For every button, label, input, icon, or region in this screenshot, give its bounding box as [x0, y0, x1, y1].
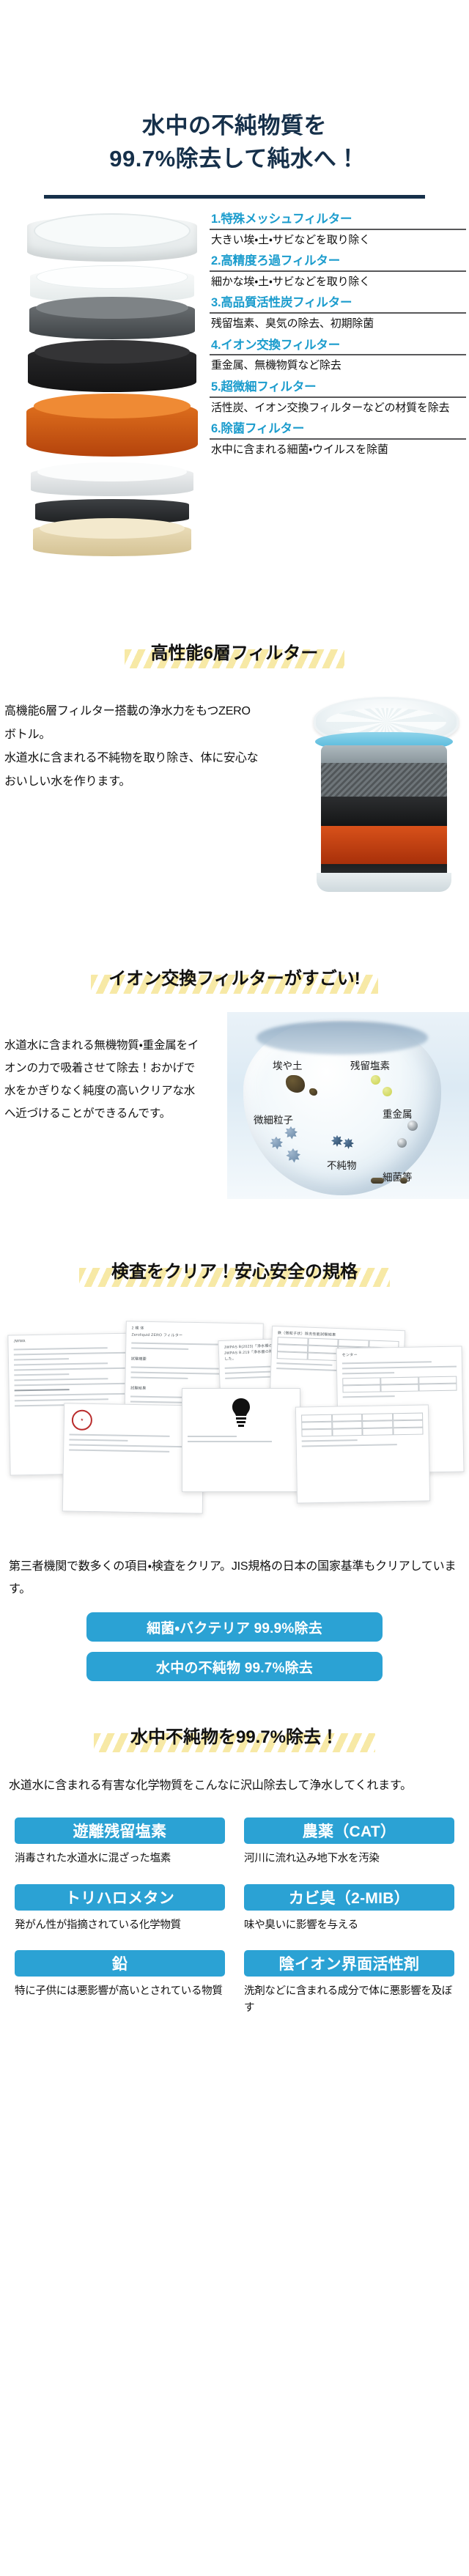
substance-desc: 発がん性が指摘されている化学物質 — [15, 1917, 225, 1934]
six-layer-section: 高性能6層フィルター 高機能6層フィルター搭載の浄水力をもつZEROボトル。 水… — [0, 638, 469, 917]
filter-desc: 大きい埃・土・サビなどを取り除く — [210, 230, 466, 249]
page-title: 水中の不純物質を 99.7%除去して純水へ！ — [0, 110, 469, 176]
water-drop-illustration: 埃や土 残留塩素 微細粒子 重金属 不純物 細菌等 — [227, 1012, 469, 1199]
particle-bacteria — [400, 1178, 407, 1184]
bottle-base — [317, 873, 451, 892]
certification-note: 第三者機関で数多くの項目・検査をクリア。JIS規格の日本の国家基準もクリアしてい… — [9, 1555, 460, 1601]
filter-stack-section: 1.特殊メッシュフィルター 大きい埃・土・サビなどを取り除く 2.高精度ろ過フィ… — [0, 212, 469, 600]
filter-desc: 細かな埃・土・サビなどを取り除く — [210, 272, 466, 291]
heading-text: 検査をクリア！安心安全の規格 — [104, 1257, 365, 1284]
six-layer-body: 高機能6層フィルター搭載の浄水力をもつZEROボトル。 水道水に含まれる不純物を… — [4, 700, 261, 794]
substance-name: 農薬（CAT） — [244, 1817, 454, 1844]
filter-title: 5.超微細フィルター — [210, 378, 466, 396]
particle-bacteria — [371, 1178, 384, 1184]
filter-title: 6.除菌フィルター — [210, 420, 466, 438]
filter-list-item: 3.高品質活性炭フィルター 残留塩素、臭気の除去、初期除菌 — [210, 294, 466, 332]
bottle-layer-2 — [321, 763, 447, 797]
ion-exchange-section: イオン交換フィルターがすごい! 水道水に含まれる無機物質・重金属をイオンの力で吸… — [0, 964, 469, 1257]
substance-name: トリハロメタン — [15, 1884, 225, 1911]
drop-label-impurity: 不純物 — [327, 1157, 357, 1172]
certificate-collage: JWWA 2 検 体 Zeroliquid ZERO フィルター 試験概要 試験… — [0, 1318, 469, 1545]
filter-list-item: 1.特殊メッシュフィルター 大きい埃・土・サビなどを取り除く — [210, 210, 466, 248]
removal-badge-bacteria: 細菌・バクテリア 99.9%除去 — [86, 1612, 383, 1642]
doc-org-label: JWWA — [8, 1333, 139, 1345]
page-title-line-2: 99.7%除去して純水へ！ — [109, 146, 359, 171]
substance-name: 陰イオン界面活性剤 — [244, 1950, 454, 1977]
drop-label-particles: 微細粒子 — [254, 1112, 293, 1126]
substance-name: カビ臭（2-MIB） — [244, 1884, 454, 1911]
drop-label-bacteria: 細菌等 — [383, 1169, 413, 1184]
filter-disc-sterilize — [33, 523, 191, 556]
substance-name: 鉛 — [15, 1950, 225, 1977]
jwwa-seal-icon: ★ — [72, 1409, 92, 1430]
substance-desc: 味や臭いに影響を与える — [244, 1917, 454, 1934]
product-landing-page: 水中の不純物質を 99.7%除去して純水へ！ 1.特殊メッシュフィルター 大きい… — [0, 0, 469, 2105]
filter-stack-illustration — [6, 212, 218, 593]
drop-label-heavy-metal: 重金属 — [383, 1106, 413, 1121]
substances-heading: 水中不純物を99.7%除去！ — [0, 1722, 469, 1749]
filter-title: 4.イオン交換フィルター — [210, 336, 466, 355]
six-layer-heading: 高性能6層フィルター — [0, 638, 469, 665]
certification-heading: 検査をクリア！安心安全の規格 — [0, 1257, 469, 1284]
hero-section: 水中の不純物質を 99.7%除去して純水へ！ — [0, 0, 469, 199]
filter-title: 2.高精度ろ過フィルター — [210, 252, 466, 270]
substances-section: 水中不純物を99.7%除去！ 水道水に含まれる有害な化学物質をこんなに沢山除去し… — [0, 1722, 469, 2105]
filter-title: 3.高品質活性炭フィルター — [210, 294, 466, 312]
filter-desc: 活性炭、イオン交換フィルターなどの材質を除去 — [210, 398, 466, 417]
page-bottom-spacer — [0, 2017, 469, 2105]
substance-desc: 洗剤などに含まれる成分で体に悪影響を及ぼす — [244, 1983, 454, 2017]
removal-badge-impurity: 水中の不純物 99.7%除去 — [86, 1652, 383, 1681]
substance-card: 陰イオン界面活性剤 洗剤などに含まれる成分で体に悪影響を及ぼす — [244, 1950, 454, 2017]
filter-desc: 残留塩素、臭気の除去、初期除菌 — [210, 314, 466, 333]
substances-lead: 水道水に含まれる有害な化学物質をこんなに沢山除去して浄水してくれます。 — [9, 1774, 460, 1797]
substance-card: 遊離残留塩素 消毒された水道水に混ざった塩素 — [15, 1817, 225, 1867]
filter-list-item: 4.イオン交換フィルター 重金属、無機物質など除去 — [210, 336, 466, 374]
filter-desc: 水中に含まれる細菌・ウイルスを除菌 — [210, 440, 466, 459]
filter-disc-carbon — [28, 345, 196, 392]
heading-text: イオン交換フィルターがすごい! — [101, 964, 368, 991]
filter-disc-mesh — [27, 216, 197, 262]
filter-disc-gray — [29, 301, 195, 339]
bottle-layer-4 — [321, 826, 447, 864]
doc-center-label: センター — [337, 1346, 462, 1359]
filter-desc: 重金属、無機物質など除去 — [210, 355, 466, 374]
filter-disc-ultrafine — [31, 467, 193, 496]
certification-section: 検査をクリア！安心安全の規格 JWWA 2 検 体 Zeroliquid ZER… — [0, 1257, 469, 1681]
heading-text: 高性能6層フィルター — [144, 638, 326, 665]
filter-title: 1.特殊メッシュフィルター — [210, 210, 466, 229]
ion-heading: イオン交換フィルターがすごい! — [0, 964, 469, 991]
certificate-document — [295, 1404, 430, 1503]
filter-list: 1.特殊メッシュフィルター 大きい埃・土・サビなどを取り除く 2.高精度ろ過フィ… — [210, 210, 466, 462]
substances-grid: 遊離残留塩素 消毒された水道水に混ざった塩素 農薬（CAT） 河川に流れ込み地下… — [15, 1817, 454, 2017]
substance-desc: 河川に流れ込み地下水を汚染 — [244, 1850, 454, 1867]
substance-card: トリハロメタン 発がん性が指摘されている化学物質 — [15, 1884, 225, 1934]
substance-card: 農薬（CAT） 河川に流れ込み地下水を汚染 — [244, 1817, 454, 1867]
substance-desc: 特に子供には悪影響が高いとされている物質 — [15, 1983, 225, 2000]
bulb-icon — [228, 1396, 254, 1428]
filter-list-item: 6.除菌フィルター 水中に含まれる細菌・ウイルスを除菌 — [210, 420, 466, 458]
filter-list-item: 5.超微細フィルター 活性炭、イオン交換フィルターなどの材質を除去 — [210, 378, 466, 416]
particle-chlorine — [383, 1087, 392, 1096]
particle-dust — [309, 1088, 317, 1096]
substance-desc: 消毒された水道水に混ざった塩素 — [15, 1850, 225, 1867]
filter-disc-ion — [26, 399, 198, 457]
bottle-filter-cartridge — [321, 745, 447, 889]
particle-chlorine — [371, 1075, 380, 1085]
zero-bottle-illustration — [312, 697, 456, 892]
title-divider — [44, 195, 425, 199]
substance-name: 遊離残留塩素 — [15, 1817, 225, 1844]
bottle-layer-1 — [321, 745, 447, 763]
page-title-line-1: 水中の不純物質を — [142, 113, 327, 139]
heading-text: 水中不純物を99.7%除去！ — [123, 1722, 346, 1749]
ion-body: 水道水に含まれる無機物質・重金属をイオンの力で吸着させて除去！おかげで水をかぎり… — [4, 1034, 202, 1125]
substance-card: 鉛 特に子供には悪影響が高いとされている物質 — [15, 1950, 225, 2017]
substance-card: カビ臭（2-MIB） 味や臭いに影響を与える — [244, 1884, 454, 1934]
drop-label-chlorine: 残留塩素 — [350, 1058, 390, 1072]
particle-metal — [407, 1121, 418, 1131]
filter-list-item: 2.高精度ろ過フィルター 細かな埃・土・サビなどを取り除く — [210, 252, 466, 290]
drop-label-dust: 埃や土 — [273, 1058, 303, 1072]
bottle-layer-3 — [321, 797, 447, 826]
particle-metal — [397, 1138, 407, 1148]
certificate-document — [182, 1388, 300, 1492]
